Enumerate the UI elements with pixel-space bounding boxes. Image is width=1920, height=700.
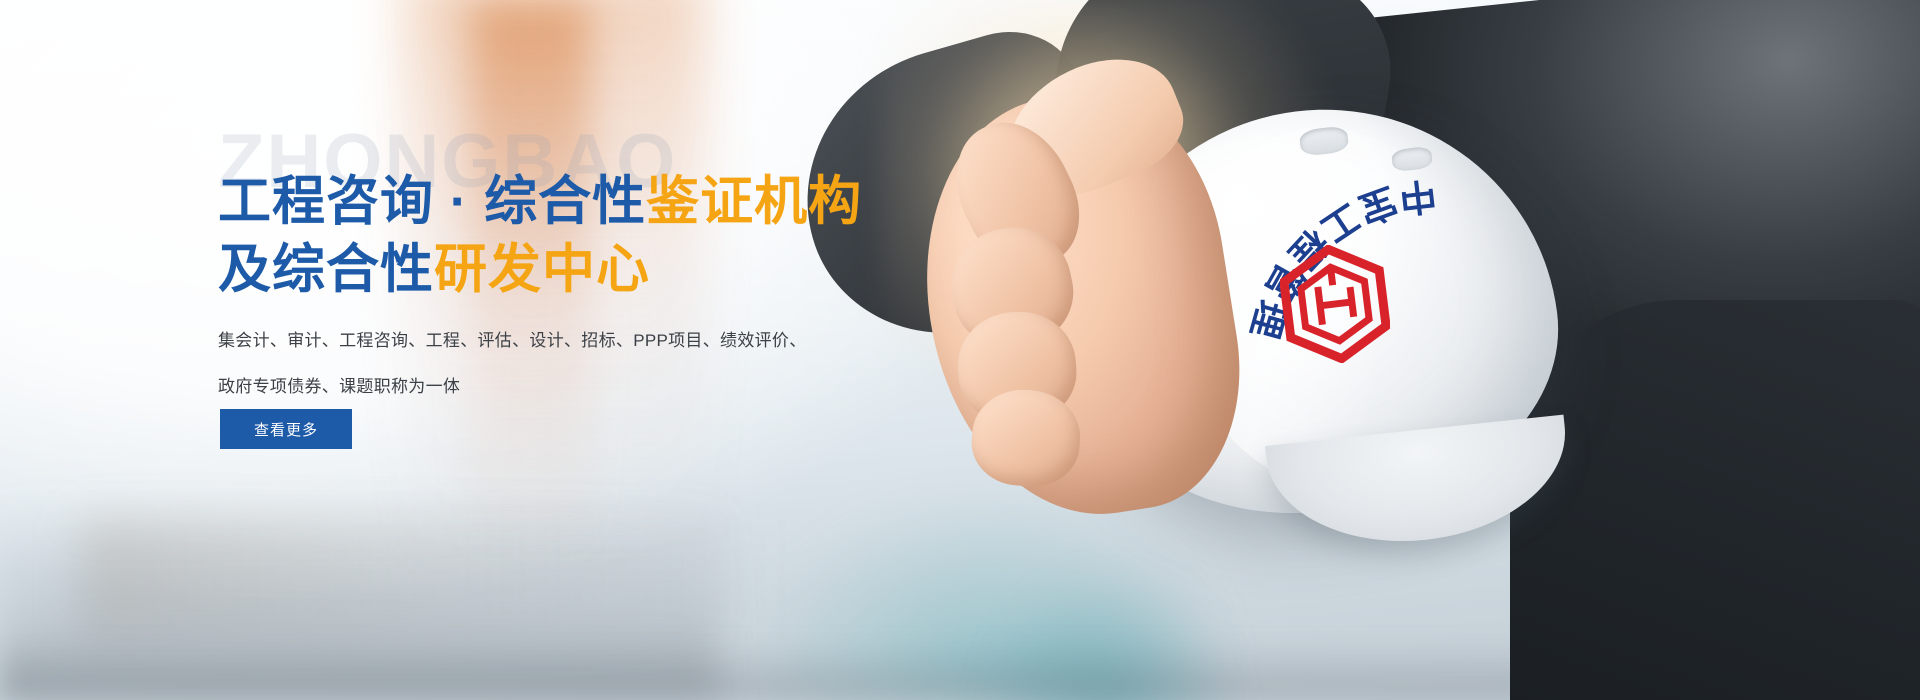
hero-banner: 中宝工程管理 ZHONGBAO 工程咨询 · 综合性鉴证机构 及综合性研发中心 … — [0, 0, 1920, 700]
headline-line-2-blue: 及综合性 — [218, 240, 434, 299]
sleeve-lower — [1510, 300, 1920, 700]
headline-line-2: 及综合性研发中心 — [218, 236, 862, 304]
description-line-1: 集会计、审计、工程咨询、工程、评估、设计、招标、PPP项目、绩效评价、 — [218, 318, 807, 364]
view-more-button[interactable]: 查看更多 — [220, 409, 352, 449]
zhongbao-hexagon-logo-icon — [1280, 245, 1390, 363]
headline-line-1-orange: 鉴证机构 — [646, 172, 862, 231]
headline-line-1-blue: 工程咨询 · 综合性 — [218, 172, 646, 231]
hero-headline: 工程咨询 · 综合性鉴证机构 及综合性研发中心 — [218, 168, 862, 304]
headline-line-1: 工程咨询 · 综合性鉴证机构 — [218, 168, 862, 236]
description-line-2: 政府专项债券、课题职称为一体 — [218, 364, 807, 410]
headline-line-2-orange: 研发中心 — [434, 240, 650, 299]
hero-description: 集会计、审计、工程咨询、工程、评估、设计、招标、PPP项目、绩效评价、 政府专项… — [218, 318, 807, 410]
